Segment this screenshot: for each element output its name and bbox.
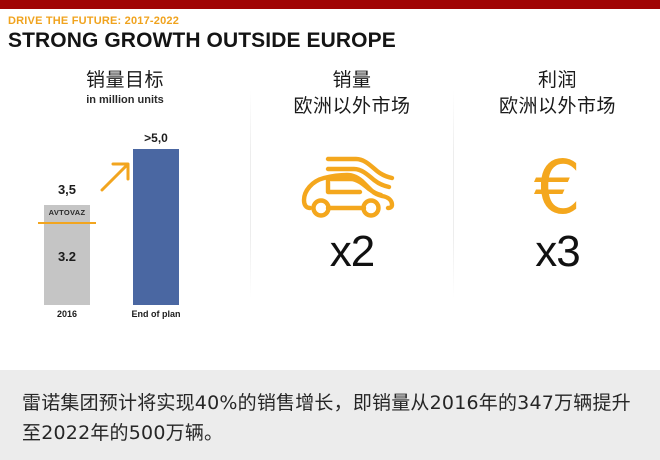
bar-segment-label-avtovaz: AVTOVAZ: [44, 208, 90, 217]
growth-arrow-icon: [99, 159, 133, 193]
chart-subheading: in million units: [0, 94, 250, 106]
profit-heading: 利润 欧洲以外市场: [455, 67, 660, 119]
profit-multiplier: x3: [455, 227, 660, 277]
profit-heading-line2: 欧洲以外市场: [455, 93, 660, 119]
bar-segment-divider-line: [38, 222, 96, 224]
column-sales: 销量 欧洲以外市场 x2: [252, 67, 452, 367]
caption-text: 雷诺集团预计将实现40%的销售增长，即销量从2016年的347万辆提升至2022…: [22, 388, 638, 448]
euro-icon: €: [534, 145, 581, 231]
column-divider-1: [250, 89, 251, 299]
column-divider-2: [453, 89, 454, 299]
sales-heading-line2: 欧洲以外市场: [252, 93, 452, 119]
sales-heading: 销量 欧洲以外市场: [252, 67, 452, 119]
bar-2016-inner-value: 3.2: [44, 249, 90, 264]
sales-icon-wrap: [252, 145, 452, 223]
sales-heading-line1: 销量: [252, 67, 452, 93]
bar-endofplan: [133, 149, 179, 305]
bar-2016-top-value: 3,5: [44, 182, 90, 197]
column-profit: 利润 欧洲以外市场 € x3: [455, 67, 660, 367]
column-sales-target: 销量目标 in million units 3,5 AVTOVAZ 3.2 >5…: [0, 67, 250, 367]
profit-heading-line1: 利润: [455, 67, 660, 93]
top-accent-bar: [0, 0, 660, 9]
bar-endofplan-top-value: >5,0: [128, 131, 184, 145]
slide-body: DRIVE THE FUTURE: 2017-2022 STRONG GROWT…: [0, 9, 660, 370]
profit-icon-wrap: €: [455, 145, 660, 231]
caption-bar: 雷诺集团预计将实现40%的销售增长，即销量从2016年的347万辆提升至2022…: [0, 370, 660, 460]
chart-heading: 销量目标: [0, 67, 250, 93]
sales-multiplier: x2: [252, 227, 452, 277]
chart-heading-label: 销量目标: [0, 67, 250, 93]
bar-category-2016: 2016: [44, 309, 90, 319]
car-icon: [298, 145, 406, 223]
page-title: STRONG GROWTH OUTSIDE EUROPE: [8, 29, 396, 53]
bar-category-endofplan: End of plan: [120, 309, 192, 319]
slide-eyebrow: DRIVE THE FUTURE: 2017-2022: [8, 15, 179, 27]
bar-chart: 3,5 AVTOVAZ 3.2 >5,0 2016 End of plan: [0, 125, 250, 315]
